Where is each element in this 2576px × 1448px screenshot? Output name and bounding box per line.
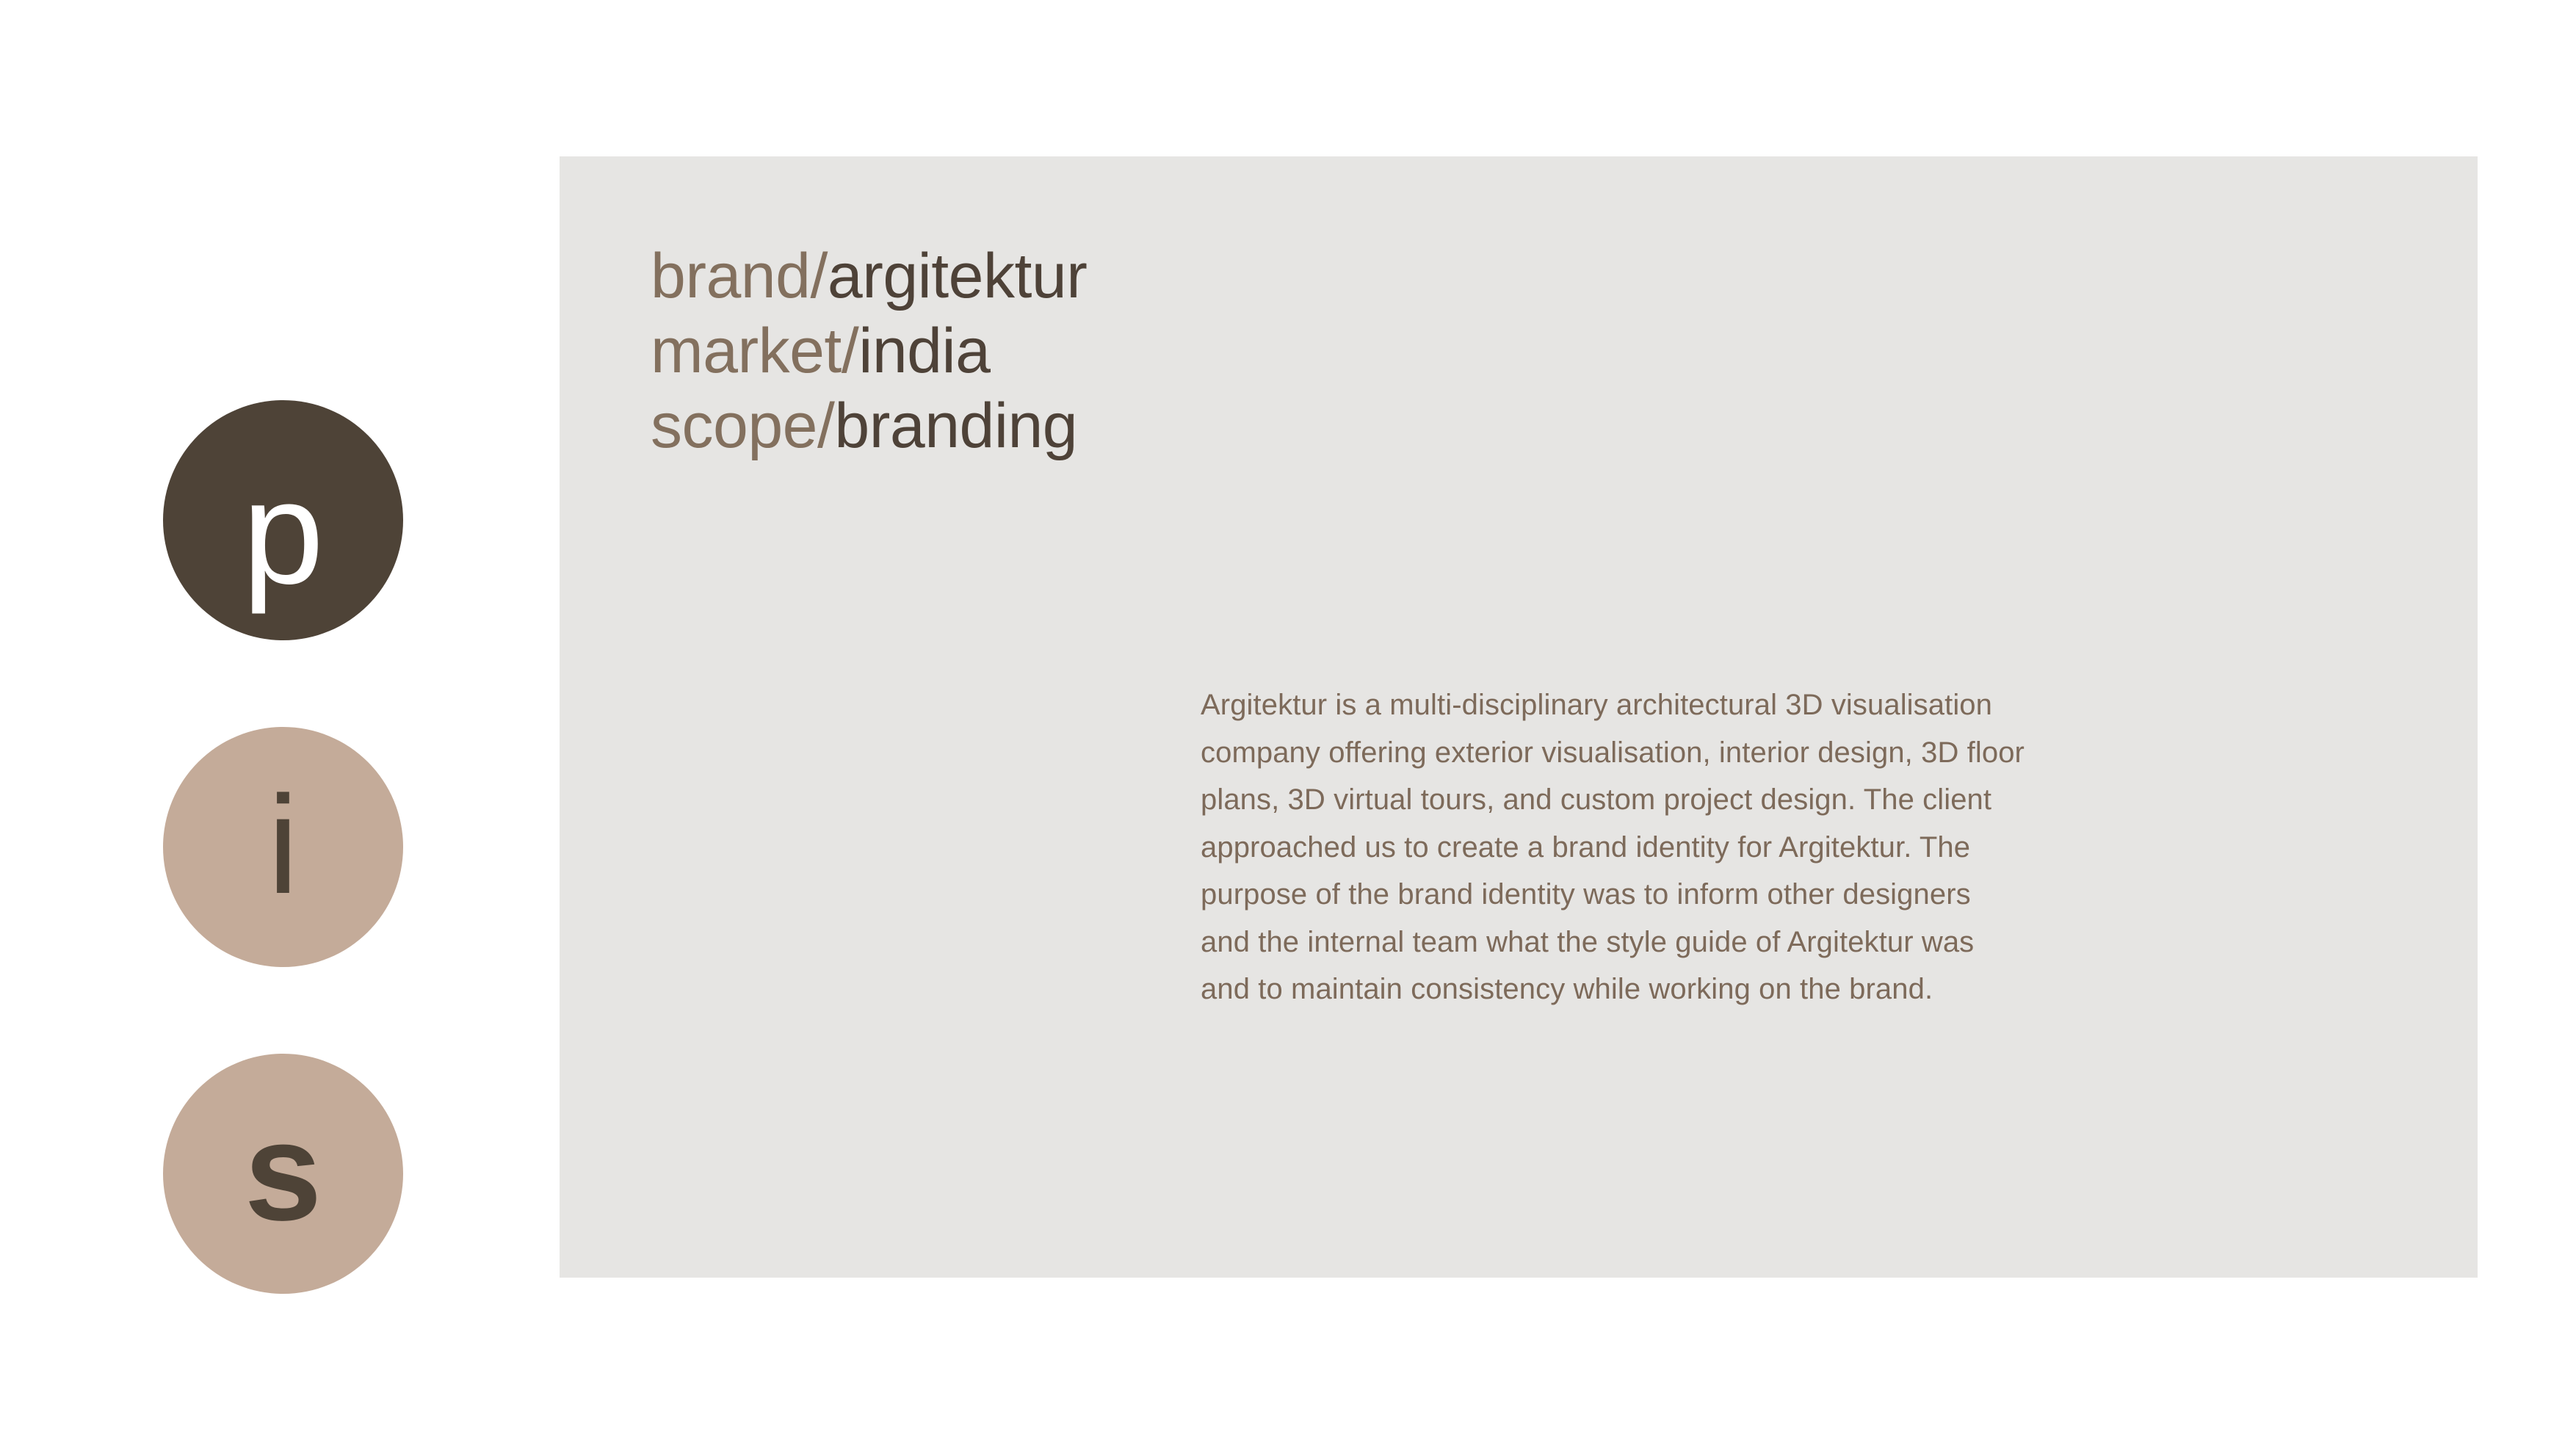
meta-value-scope: branding [834,391,1077,461]
badge-i: i [163,727,403,967]
description-line: purpose of the brand identity was to inf… [1201,871,2243,919]
meta-separator-scope: / [817,391,834,461]
meta-value-market: india [858,316,990,386]
project-meta-heading: brand/argitektur market/india scope/bran… [651,239,1087,463]
description-line: approached us to create a brand identity… [1201,824,2243,872]
presentation-slide: p i s brand/argitektur market/india scop… [0,0,2576,1448]
badge-p-letter: p [242,460,324,607]
meta-separator-market: / [842,316,858,386]
project-description: Argitektur is a multi-disciplinary archi… [1201,681,2243,1013]
description-line: and to maintain consistency while workin… [1201,966,2243,1013]
badge-i-letter: i [267,775,298,915]
badge-s: s [163,1054,403,1294]
description-line: and the internal team what the style gui… [1201,919,2243,966]
badge-s-letter: s [245,1102,322,1242]
description-line: company offering exterior visualisation,… [1201,729,2243,777]
meta-line-market: market/india [651,314,1087,388]
meta-value-brand: argitektur [828,241,1088,311]
badge-rail: p i s [163,400,405,1281]
meta-separator-brand: / [810,241,827,311]
meta-line-brand: brand/argitektur [651,239,1087,314]
meta-key-brand: brand [651,241,810,311]
meta-line-scope: scope/branding [651,388,1087,463]
description-line: plans, 3D virtual tours, and custom proj… [1201,776,2243,824]
meta-key-scope: scope [651,391,817,461]
description-line: Argitektur is a multi-disciplinary archi… [1201,681,2243,729]
meta-key-market: market [651,316,842,386]
badge-p: p [163,400,403,640]
content-panel: brand/argitektur market/india scope/bran… [560,156,2478,1278]
